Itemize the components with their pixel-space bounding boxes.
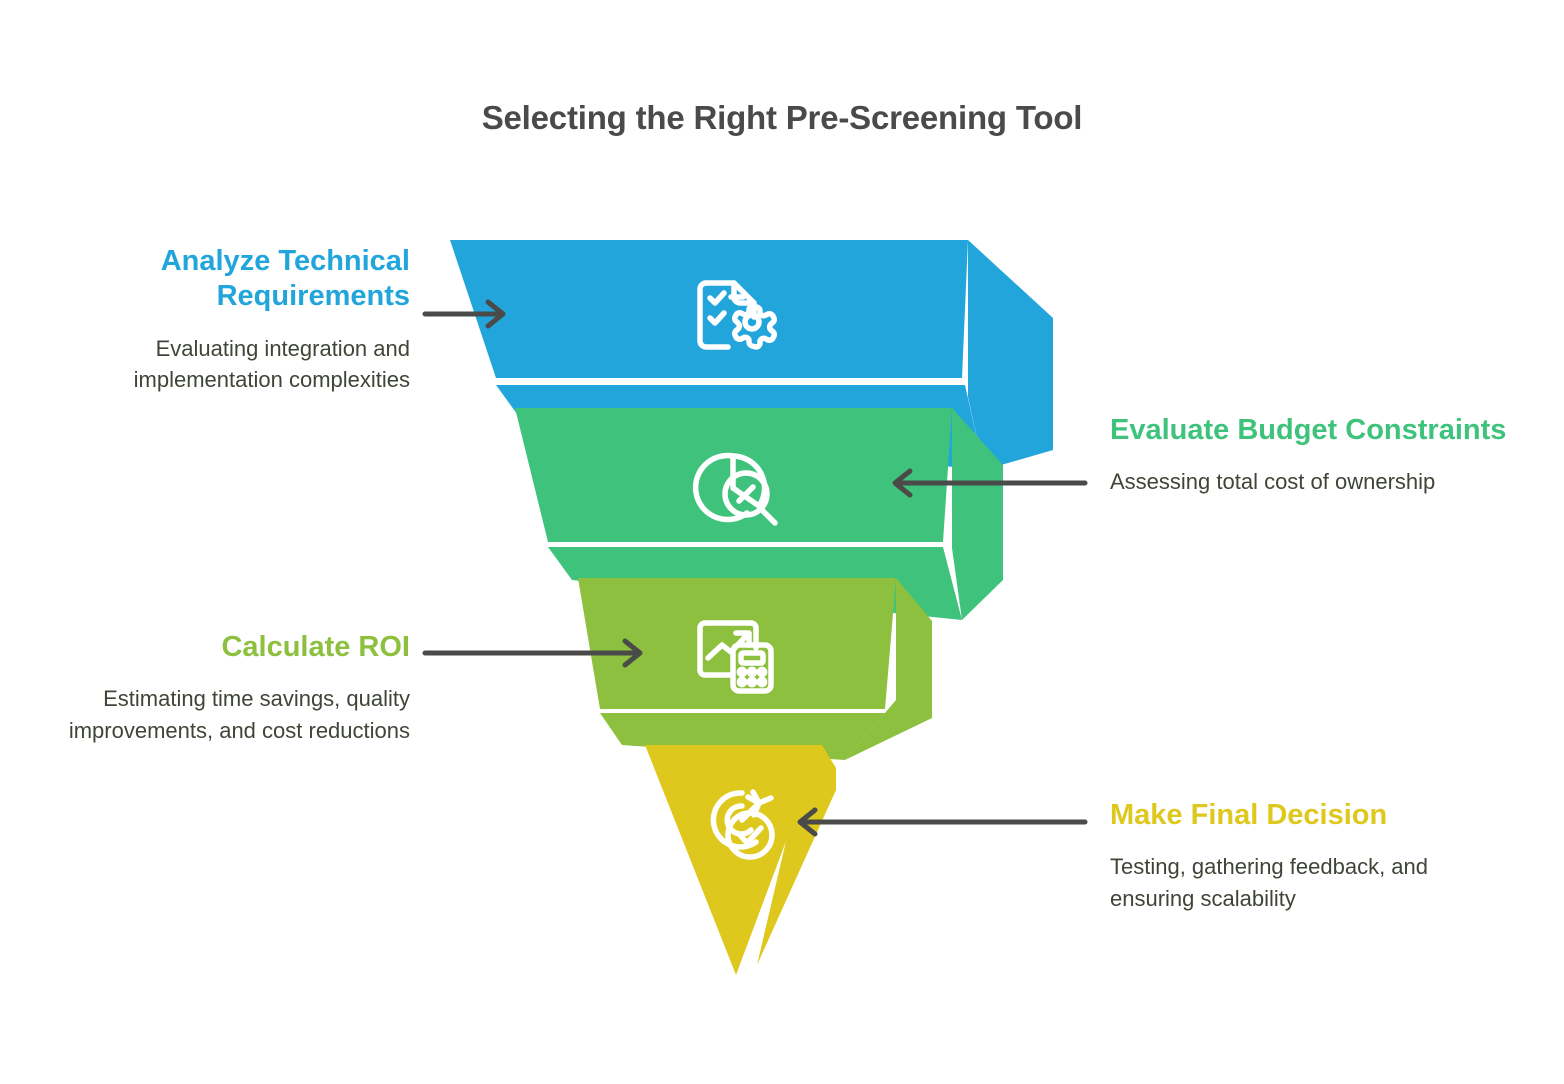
funnel-segment-make-final-decision[interactable]	[645, 745, 836, 975]
stage-label-evaluate-budget-constraints[interactable]: Evaluate Budget Constraints Assessing to…	[1110, 413, 1510, 498]
infographic-canvas: Selecting the Right Pre-Screening Tool	[0, 0, 1564, 1084]
funnel-diagram	[0, 0, 1564, 1084]
stage-description: Evaluating integration and implementatio…	[20, 333, 410, 395]
funnel-segment-side-panel	[968, 240, 1053, 470]
stage-heading: Make Final Decision	[1110, 798, 1510, 833]
funnel-segment-calculate-roi[interactable]	[578, 578, 932, 760]
stage-heading: Analyze Technical Requirements	[20, 244, 410, 315]
stage-heading: Calculate ROI	[60, 630, 410, 665]
stage-label-analyze-technical-requirements[interactable]: Analyze Technical Requirements Evaluatin…	[20, 244, 410, 395]
stage-description: Assessing total cost of ownership	[1110, 466, 1510, 497]
connector-arrow-analyze-technical-requirements	[425, 302, 503, 326]
stage-description: Estimating time savings, quality improve…	[60, 683, 410, 745]
stage-heading: Evaluate Budget Constraints	[1110, 413, 1510, 448]
stage-label-calculate-roi[interactable]: Calculate ROI Estimating time savings, q…	[60, 630, 410, 746]
funnel-segment-face	[450, 240, 968, 378]
stage-description: Testing, gathering feedback, and ensurin…	[1110, 851, 1510, 913]
stage-label-make-final-decision[interactable]: Make Final Decision Testing, gathering f…	[1110, 798, 1510, 914]
connector-arrow-make-final-decision	[800, 810, 1085, 834]
